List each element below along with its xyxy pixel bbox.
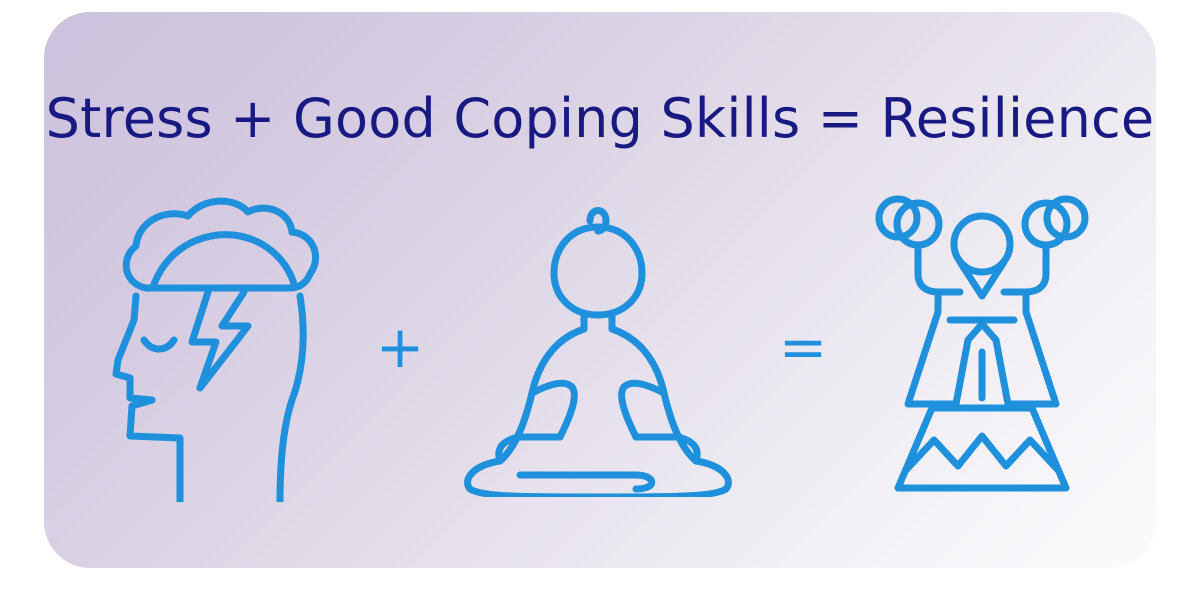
plus-operator-icon: + bbox=[357, 182, 443, 512]
person-on-mountain-peak-icon bbox=[872, 192, 1092, 502]
equals-operator-icon: = bbox=[753, 182, 853, 512]
head-with-storm-cloud-icon bbox=[108, 192, 338, 502]
infographic-root: Stress + Good Coping Skills = Resilience bbox=[0, 0, 1200, 594]
gradient-card-background: Stress + Good Coping Skills = Resilience bbox=[44, 12, 1156, 568]
equation-term-stress bbox=[89, 182, 357, 512]
equation-term-coping-skills bbox=[443, 182, 753, 512]
page-title: Stress + Good Coping Skills = Resilience bbox=[44, 88, 1156, 150]
person-meditating-lotus-icon bbox=[452, 197, 744, 497]
equation-row: + bbox=[44, 172, 1156, 522]
equation-term-resilience bbox=[853, 182, 1111, 512]
